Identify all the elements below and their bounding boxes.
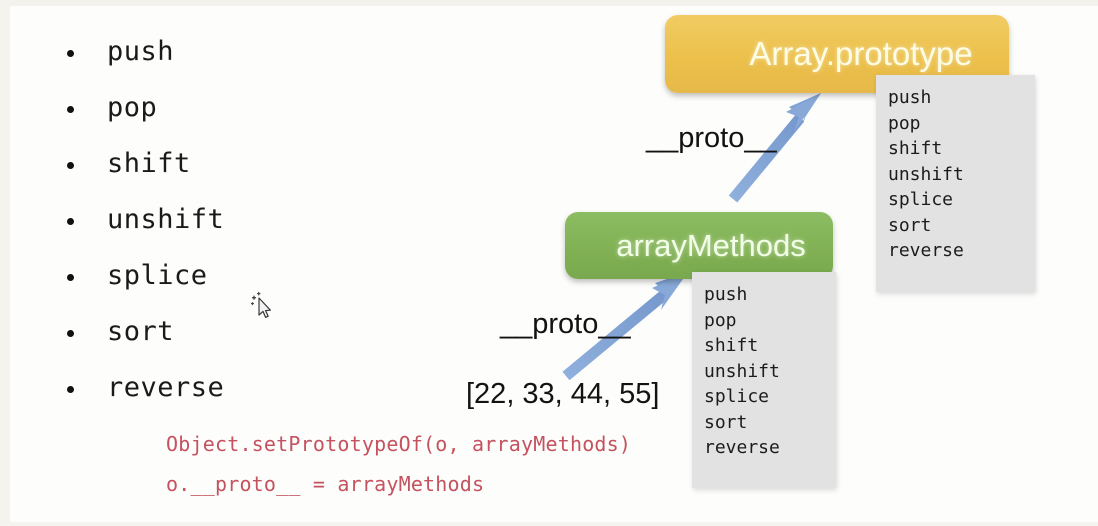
- method-item-shift: shift: [876, 136, 1035, 162]
- bullet-item-reverse: reverse: [60, 360, 440, 416]
- slide-edge-bottom: [0, 522, 1098, 526]
- bullet-item-push: push: [60, 24, 440, 80]
- code-line-proto-assignment: o.__proto__ = arrayMethods: [166, 472, 484, 496]
- method-item-unshift: unshift: [876, 162, 1035, 188]
- node-label-array-methods: arrayMethods: [616, 228, 806, 264]
- method-item-pop: pop: [876, 111, 1035, 137]
- method-item-push: push: [692, 282, 836, 308]
- method-item-sort: sort: [692, 410, 836, 436]
- bullet-item-shift: shift: [60, 136, 440, 192]
- node-label-array-prototype: Array.prototype: [749, 35, 972, 73]
- mouse-pointer-icon: [250, 292, 276, 320]
- method-panel-array-prototype: push pop shift unshift splice sort rever…: [876, 75, 1035, 292]
- node-box-array-methods[interactable]: arrayMethods: [565, 212, 833, 279]
- method-panel-array-methods: push pop shift unshift splice sort rever…: [692, 272, 836, 488]
- method-item-splice: splice: [692, 384, 836, 410]
- array-methods-bullet-list: push pop shift unshift splice sort rever…: [60, 24, 440, 416]
- bullet-item-unshift: unshift: [60, 192, 440, 248]
- method-list-array-methods: push pop shift unshift splice sort rever…: [692, 282, 836, 461]
- slide-edge-top: [0, 0, 1098, 6]
- slide-canvas: push pop shift unshift splice sort rever…: [0, 0, 1098, 526]
- method-item-shift: shift: [692, 333, 836, 359]
- method-item-push: push: [876, 85, 1035, 111]
- proto-label-lower: __proto__: [500, 308, 631, 341]
- array-literal-value: [22, 33, 44, 55]: [466, 378, 659, 411]
- method-item-reverse: reverse: [692, 435, 836, 461]
- bullet-item-pop: pop: [60, 80, 440, 136]
- method-item-sort: sort: [876, 213, 1035, 239]
- method-item-reverse: reverse: [876, 238, 1035, 264]
- method-item-pop: pop: [692, 308, 836, 334]
- slide-edge-left: [0, 0, 10, 526]
- method-item-unshift: unshift: [692, 359, 836, 385]
- code-line-set-prototype-of: Object.setPrototypeOf(o, arrayMethods): [166, 432, 631, 456]
- proto-label-upper: __proto__: [646, 122, 777, 155]
- method-list-array-prototype: push pop shift unshift splice sort rever…: [876, 85, 1035, 264]
- method-item-splice: splice: [876, 187, 1035, 213]
